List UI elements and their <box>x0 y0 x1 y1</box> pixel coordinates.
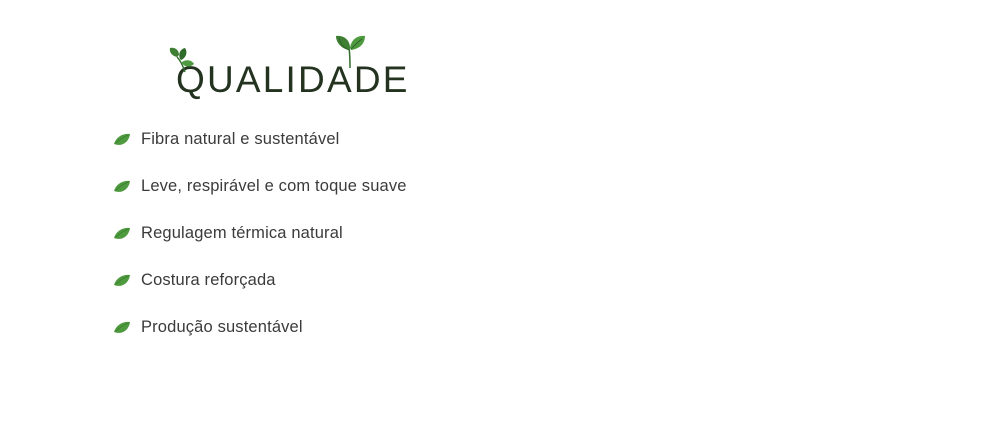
list-item-label: Produção sustentável <box>141 317 303 338</box>
list-item-label: Leve, respirável e com toque suave <box>141 176 407 197</box>
column-qualidade: QUALIDADE <box>0 0 500 445</box>
benefits-panel: QUALIDADE <box>0 0 1000 445</box>
list-item: Costura reforçada <box>112 270 492 292</box>
list-item: Fibra natural e sustentável <box>112 129 492 151</box>
heading-qualidade: QUALIDADE <box>176 38 410 98</box>
leaf-icon <box>112 319 132 339</box>
list-item: Produção sustentável <box>112 317 492 339</box>
list-item: Leve, respirável e com toque suave <box>112 176 492 198</box>
column-garantia: GARANTIA <box>500 0 1000 445</box>
list-item-label: Regulagem térmica natural <box>141 223 343 244</box>
list-item: Regulagem térmica natural <box>112 223 492 245</box>
heading-qualidade-label: QUALIDADE <box>176 61 410 98</box>
leaf-icon <box>112 131 132 151</box>
list-item-label: Fibra natural e sustentável <box>141 129 340 150</box>
leaf-icon <box>112 178 132 198</box>
leaf-icon <box>112 272 132 292</box>
leaf-icon <box>112 225 132 245</box>
list-item-label: Costura reforçada <box>141 270 276 291</box>
